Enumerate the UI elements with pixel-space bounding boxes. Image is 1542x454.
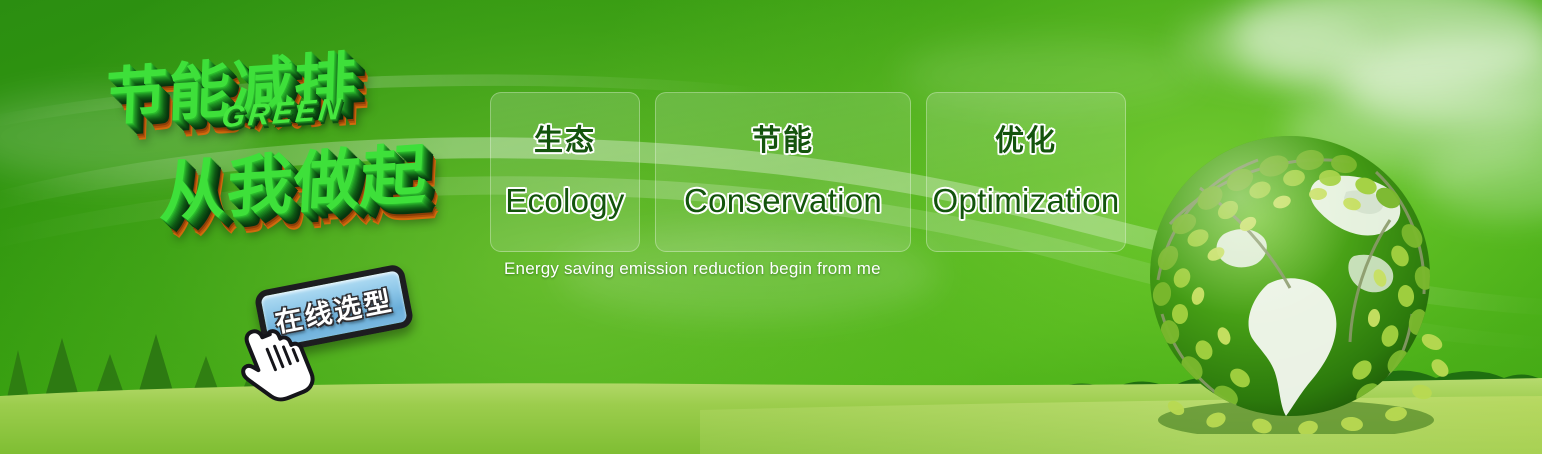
headline-line-2: 从我做起: [158, 121, 430, 236]
feature-card-cn-label: 优化: [995, 127, 1057, 156]
cloud-shape: [1340, 34, 1542, 130]
hand-pointer-icon: [238, 318, 318, 402]
feature-card-cn-label: 生态: [534, 127, 596, 156]
feature-card-conservation[interactable]: 节能 Conservation: [655, 92, 911, 252]
leafy-globe-icon: [1140, 128, 1450, 434]
feature-card-en-label: Optimization: [933, 184, 1120, 217]
feature-card-optimization[interactable]: 优化 Optimization: [926, 92, 1126, 252]
cloud-shape: [1180, 10, 1370, 80]
eco-banner: 节能减排 GREEN 从我做起 在线选型 生态 Ecology 节能 Conse…: [0, 0, 1542, 454]
feature-card-en-label: Conservation: [684, 184, 882, 217]
feature-card-cn-label: 节能: [752, 127, 814, 156]
tagline: Energy saving emission reduction begin f…: [504, 259, 881, 279]
feature-card-en-label: Ecology: [505, 184, 625, 217]
feature-cards: 生态 Ecology 节能 Conservation 优化 Optimizati…: [490, 92, 1126, 252]
cloud-shape: [1230, 0, 1542, 96]
feature-card-ecology[interactable]: 生态 Ecology: [490, 92, 640, 252]
headline-3d: 节能减排 GREEN 从我做起: [88, 20, 503, 277]
